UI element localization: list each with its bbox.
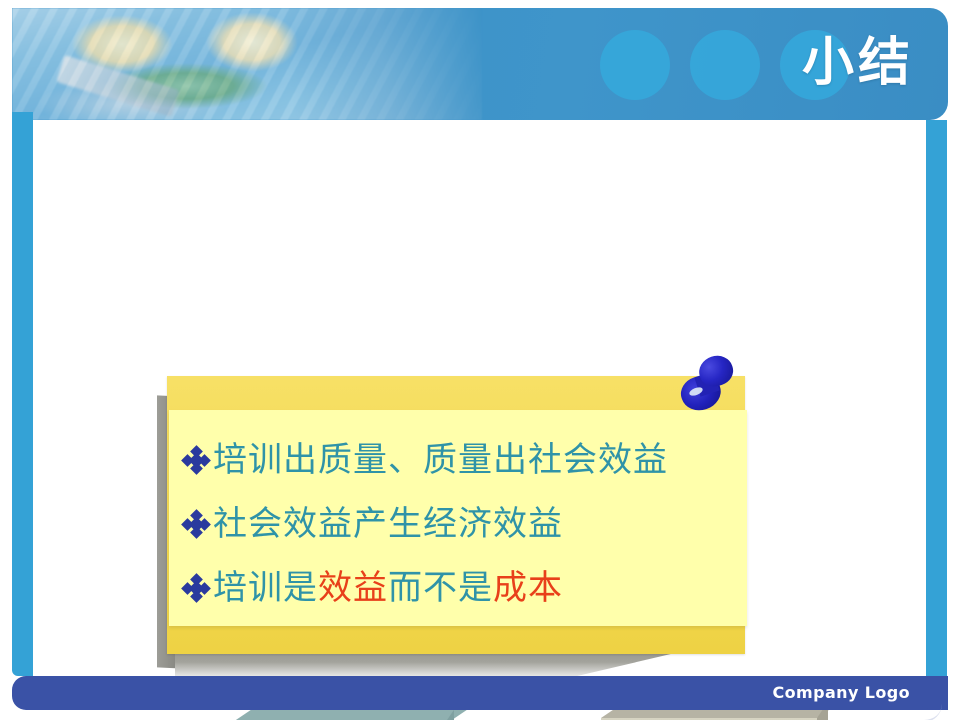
list-item: 培训是效益而不是成本	[183, 556, 739, 620]
right-accent-rail	[926, 120, 947, 676]
page-title: 小结	[802, 32, 914, 94]
list-item: 培训出质量、质量出社会效益	[183, 428, 739, 492]
header-circle-1	[600, 30, 670, 100]
list-item: 社会效益产生经济效益	[183, 492, 739, 556]
surgical-instruments	[57, 55, 180, 117]
pushpin-icon	[671, 354, 745, 430]
note-line-3-seg-3: 而不是	[388, 568, 493, 608]
note-line-1-text: 培训出质量、质量出社会效益	[213, 440, 668, 480]
note-bullet-list: 培训出质量、质量出社会效益 社会效益产生经济效益 培训是效益而不是成本	[183, 428, 739, 620]
note-line-2-text: 社会效益产生经济效益	[213, 504, 563, 544]
note-line-3-seg-4: 成本	[493, 568, 563, 608]
summary-note: 培训出质量、质量出社会效益 社会效益产生经济效益 培训是效益而不是成本	[157, 354, 757, 684]
slide-header-banner: 小结	[12, 8, 948, 120]
note-line-3-seg-1: 培训是	[213, 568, 318, 608]
diamond-bullet-icon	[183, 575, 209, 601]
slide-canvas: 小结 培训出质量、质量出社会效益	[0, 0, 960, 720]
diamond-bullet-icon	[183, 447, 209, 473]
diamond-bullet-icon	[183, 511, 209, 537]
surgical-photo	[12, 8, 482, 120]
box-top-bevel	[227, 710, 467, 720]
note-line-3-seg-2: 效益	[318, 568, 388, 608]
header-circle-2	[690, 30, 760, 100]
slide-body: 培训出质量、质量出社会效益 社会效益产生经济效益 培训是效益而不是成本	[33, 122, 926, 674]
company-logo-text: Company Logo	[773, 683, 910, 702]
left-accent-rail	[12, 120, 33, 676]
box-clinical-skills: 临床技能	[227, 710, 443, 720]
slide-footer: Company Logo	[12, 676, 948, 710]
note-line-3: 培训是效益而不是成本	[213, 568, 563, 608]
footer-swoosh-decoration	[898, 704, 942, 720]
